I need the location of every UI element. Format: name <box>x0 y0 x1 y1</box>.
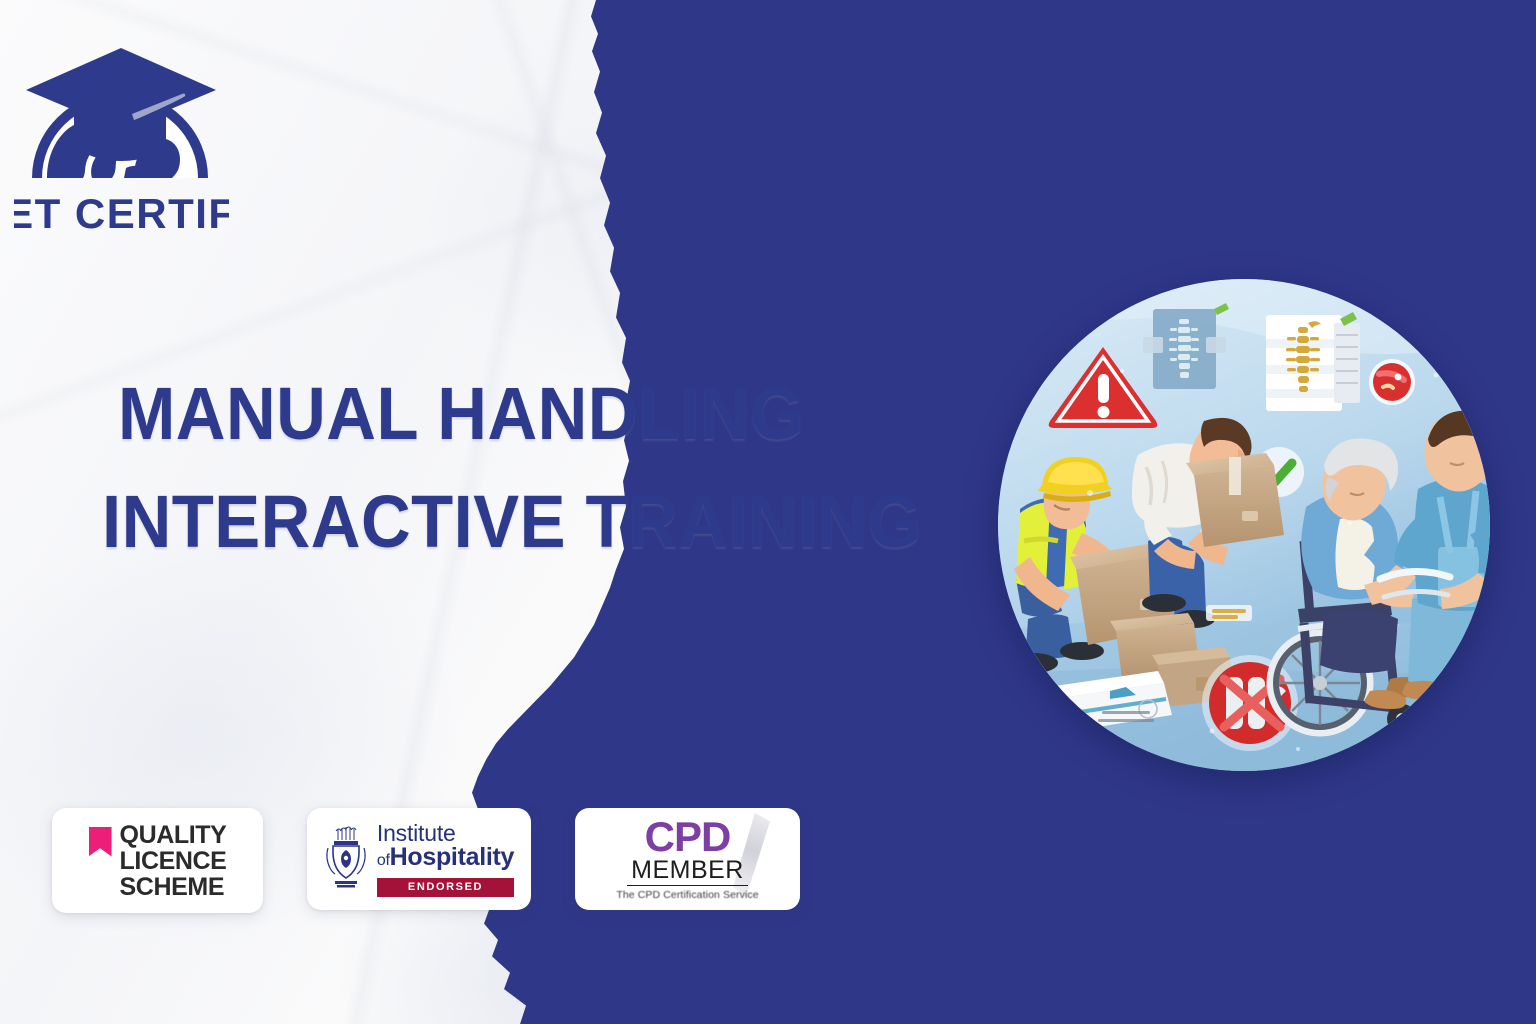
ioh-word-hospitality: Hospitality <box>390 843 515 871</box>
heraldic-crest-icon <box>324 826 368 892</box>
qls-line-1: QUALITY <box>120 822 227 848</box>
title-line-2: INTERACTIVE TRAINING <box>102 468 805 576</box>
badge-quality-licence-scheme[interactable]: QUALITY LICENCE SCHEME <box>52 808 263 913</box>
qls-line-2: LICENCE <box>120 848 227 874</box>
page-title: MANUAL HANDLING INTERACTIVE TRAINING <box>118 360 858 576</box>
qls-line-3: SCHEME <box>120 874 227 900</box>
accreditation-badges: QUALITY LICENCE SCHEME <box>52 808 800 913</box>
title-line-1: MANUAL HANDLING <box>118 360 806 468</box>
ioh-word-of: of <box>377 852 390 869</box>
cpd-subtitle: The CPD Certification Service <box>587 889 788 901</box>
badge-cpd-member[interactable]: CPD MEMBER The CPD Certification Service <box>575 808 800 910</box>
ioh-endorsed-banner: ENDORSED <box>377 878 514 897</box>
poster-canvas: GET CERTIFY MANUAL HANDLING INTERACTIVE … <box>0 0 1536 1024</box>
get-certify-logo[interactable]: GET CERTIFY <box>14 28 229 238</box>
cpd-status: MEMBER <box>627 857 748 886</box>
ioh-line-1: Institute <box>377 822 514 845</box>
cpd-acronym: CPD <box>587 817 788 857</box>
svg-text:GET CERTIFY: GET CERTIFY <box>14 190 229 237</box>
bookmark-ribbon-icon <box>89 827 112 857</box>
badge-institute-of-hospitality[interactable]: Institute ofHospitality ENDORSED <box>307 808 531 910</box>
manual-handling-illustration <box>998 279 1490 771</box>
